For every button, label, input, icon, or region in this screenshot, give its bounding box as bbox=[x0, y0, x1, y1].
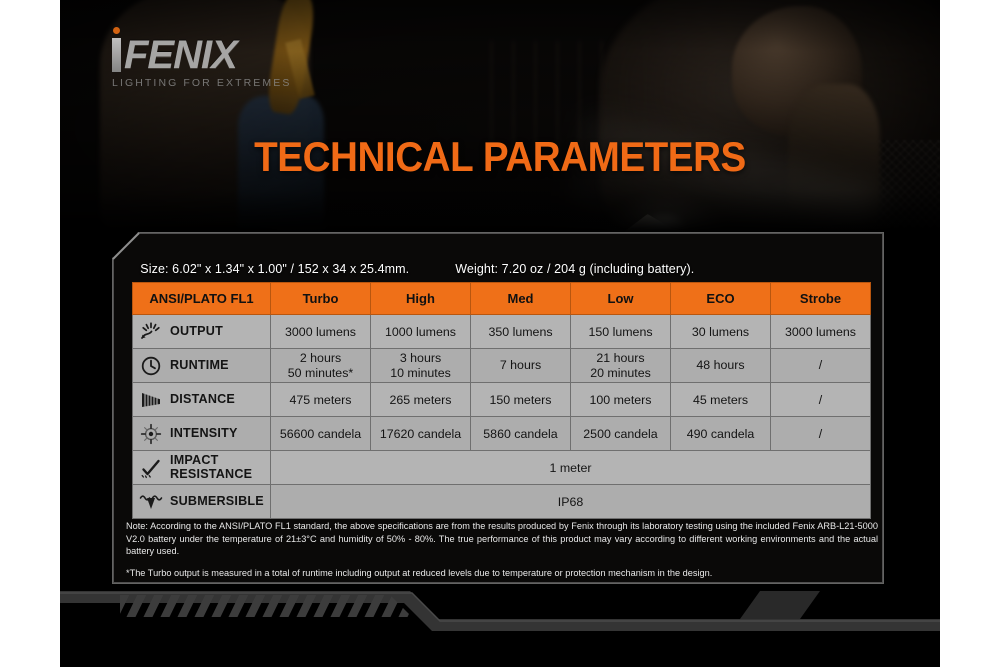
row-label-text: DISTANCE bbox=[170, 393, 235, 406]
cell-runtime-strobe: / bbox=[771, 349, 871, 383]
cell-intensity-turbo: 56600 candela bbox=[271, 417, 371, 451]
cell-distance-med: 150 meters bbox=[471, 383, 571, 417]
table-row: SUBMERSIBLE IP68 bbox=[133, 485, 871, 519]
table-row: RUNTIME 2 hours50 minutes* 3 hours10 min… bbox=[133, 349, 871, 383]
cell-submersible-value: IP68 bbox=[271, 485, 871, 519]
footnote-turbo: *The Turbo output is measured in a total… bbox=[126, 567, 878, 580]
cell-output-med: 350 lumens bbox=[471, 315, 571, 349]
cell-intensity-low: 2500 candela bbox=[571, 417, 671, 451]
cell-output-strobe: 3000 lumens bbox=[771, 315, 871, 349]
cell-output-high: 1000 lumens bbox=[371, 315, 471, 349]
logo-tagline: LIGHTING FOR EXTREMES bbox=[112, 77, 291, 89]
cell-runtime-high: 3 hours10 minutes bbox=[371, 349, 471, 383]
cell-output-eco: 30 lumens bbox=[671, 315, 771, 349]
cell-distance-eco: 45 meters bbox=[671, 383, 771, 417]
row-label-text: INTENSITY bbox=[170, 427, 238, 440]
logo-wordmark: FENIX bbox=[124, 38, 237, 72]
table-header-row: ANSI/PLATO FL1 Turbo High Med Low ECO St… bbox=[133, 283, 871, 315]
row-label-submersible: SUBMERSIBLE bbox=[133, 485, 271, 519]
row-label-line1: IMPACT bbox=[170, 453, 219, 467]
table-row: DISTANCE 475 meters 265 meters 150 meter… bbox=[133, 383, 871, 417]
left-white-margin bbox=[0, 0, 60, 667]
cell-distance-high: 265 meters bbox=[371, 383, 471, 417]
cell-output-low: 150 lumens bbox=[571, 315, 671, 349]
cell-distance-strobe: / bbox=[771, 383, 871, 417]
row-label-line2: RESISTANCE bbox=[170, 467, 252, 481]
clock-icon bbox=[139, 354, 163, 378]
intensity-target-icon bbox=[139, 422, 163, 446]
cell-output-turbo: 3000 lumens bbox=[271, 315, 371, 349]
cell-distance-turbo: 475 meters bbox=[271, 383, 371, 417]
cell-intensity-eco: 490 candela bbox=[671, 417, 771, 451]
col-head-high: High bbox=[371, 283, 471, 315]
cell-runtime-med: 7 hours bbox=[471, 349, 571, 383]
table-row: OUTPUT 3000 lumens 1000 lumens 350 lumen… bbox=[133, 315, 871, 349]
row-label-distance: DISTANCE bbox=[133, 383, 271, 417]
cell-runtime-eco: 48 hours bbox=[671, 349, 771, 383]
beam-distance-icon bbox=[139, 388, 163, 412]
row-label-text: RUNTIME bbox=[170, 359, 229, 372]
page-title: TECHNICAL PARAMETERS bbox=[40, 133, 960, 181]
cell-impact-resistance-value: 1 meter bbox=[271, 451, 871, 485]
cell-intensity-strobe: / bbox=[771, 417, 871, 451]
row-label-text: SUBMERSIBLE bbox=[170, 495, 264, 508]
col-head-turbo: Turbo bbox=[271, 283, 371, 315]
col-head-ansi: ANSI/PLATO FL1 bbox=[133, 283, 271, 315]
footnote-standard: Note: According to the ANSI/PLATO FL1 st… bbox=[126, 520, 878, 558]
row-label-runtime: RUNTIME bbox=[133, 349, 271, 383]
technical-parameters-table: ANSI/PLATO FL1 Turbo High Med Low ECO St… bbox=[132, 282, 871, 519]
cell-intensity-high: 17620 candela bbox=[371, 417, 471, 451]
weight-text: Weight: 7.20 oz / 204 g (including batte… bbox=[455, 262, 694, 276]
table-row: IMPACTRESISTANCE 1 meter bbox=[133, 451, 871, 485]
row-label-intensity: INTENSITY bbox=[133, 417, 271, 451]
right-white-margin bbox=[940, 0, 1000, 667]
bottom-decoration bbox=[60, 579, 940, 667]
col-head-strobe: Strobe bbox=[771, 283, 871, 315]
cell-runtime-low: 21 hours20 minutes bbox=[571, 349, 671, 383]
logo-i-mark bbox=[112, 38, 121, 72]
output-rays-icon bbox=[139, 320, 163, 344]
cell-distance-low: 100 meters bbox=[571, 383, 671, 417]
poster-stage: FENIX LIGHTING FOR EXTREMES TECHNICAL PA… bbox=[0, 0, 1000, 667]
col-head-eco: ECO bbox=[671, 283, 771, 315]
size-text: Size: 6.02" x 1.34" x 1.00" / 152 x 34 x… bbox=[140, 262, 409, 276]
submersible-wave-icon bbox=[139, 490, 163, 514]
cell-intensity-med: 5860 candela bbox=[471, 417, 571, 451]
row-label-output: OUTPUT bbox=[133, 315, 271, 349]
row-label-text: OUTPUT bbox=[170, 325, 223, 338]
row-label-text: IMPACTRESISTANCE bbox=[170, 454, 252, 480]
table-row: INTENSITY 56600 candela 17620 candela 58… bbox=[133, 417, 871, 451]
col-head-med: Med bbox=[471, 283, 571, 315]
cell-runtime-turbo: 2 hours50 minutes* bbox=[271, 349, 371, 383]
col-head-low: Low bbox=[571, 283, 671, 315]
fenix-logo: FENIX LIGHTING FOR EXTREMES bbox=[112, 38, 291, 89]
footnotes: Note: According to the ANSI/PLATO FL1 st… bbox=[126, 520, 878, 579]
impact-check-icon bbox=[139, 456, 163, 480]
row-label-impact-resistance: IMPACTRESISTANCE bbox=[133, 451, 271, 485]
